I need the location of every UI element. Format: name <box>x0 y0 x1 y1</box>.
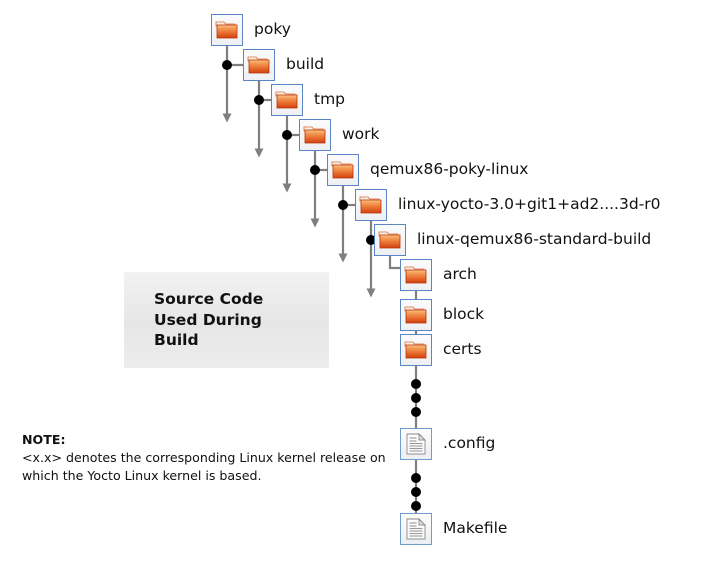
ellipsis-dots-upper <box>411 379 421 417</box>
tree-node-makefile[interactable]: Makefile <box>400 513 507 545</box>
tree-node-linux-qemux86-standard-build[interactable]: linux-qemux86-standard-build <box>374 224 651 256</box>
tree-node-label: certs <box>443 342 482 358</box>
tree-node-linux-yocto[interactable]: linux-yocto-3.0+git1+ad2....3d-r0 <box>355 189 661 221</box>
tree-node-certs[interactable]: certs <box>400 334 482 366</box>
tree-node-arch[interactable]: arch <box>400 259 477 291</box>
callout-line: Used During <box>154 310 263 331</box>
junction-dot-work <box>310 165 320 175</box>
tree-node-label: block <box>443 307 484 323</box>
tree-node-build[interactable]: build <box>243 49 324 81</box>
tree-node-label: .config <box>443 436 495 452</box>
folder-icon <box>400 334 432 366</box>
diagram-canvas: poky build tmp <box>0 0 705 581</box>
folder-icon <box>243 49 275 81</box>
note-line: which the Yocto Linux kernel is based. <box>22 467 386 485</box>
tree-node-label: work <box>342 127 380 143</box>
junction-dot-build <box>254 95 264 105</box>
ellipsis-dot <box>411 501 421 511</box>
tree-node-tmp[interactable]: tmp <box>271 84 345 116</box>
folder-icon <box>211 14 243 46</box>
tree-node-config[interactable]: .config <box>400 428 495 460</box>
note-line: <x.x> denotes the corresponding Linux ke… <box>22 449 386 467</box>
file-icon <box>400 513 432 545</box>
folder-icon <box>374 224 406 256</box>
tree-node-block[interactable]: block <box>400 299 484 331</box>
tree-node-poky[interactable]: poky <box>211 14 291 46</box>
ellipsis-dot <box>411 407 421 417</box>
junction-dot-qemux86 <box>338 200 348 210</box>
file-icon <box>400 428 432 460</box>
ellipsis-dot <box>411 487 421 497</box>
folder-icon <box>327 154 359 186</box>
tree-node-label: poky <box>254 22 291 38</box>
callout-line: Source Code <box>154 289 263 310</box>
tree-node-label: tmp <box>314 92 345 108</box>
tree-node-label: linux-qemux86-standard-build <box>417 232 651 248</box>
tree-node-label: qemux86-poky-linux <box>370 162 528 178</box>
ellipsis-dot <box>411 379 421 389</box>
ellipsis-dots-lower <box>411 473 421 511</box>
folder-icon <box>355 189 387 221</box>
tree-node-label: Makefile <box>443 521 507 537</box>
note-block: NOTE: <x.x> denotes the corresponding Li… <box>22 431 386 485</box>
ellipsis-dot <box>411 473 421 483</box>
folder-icon <box>299 119 331 151</box>
folder-icon <box>400 259 432 291</box>
note-title: NOTE: <box>22 431 386 449</box>
connector-layer <box>0 0 705 581</box>
tree-node-work[interactable]: work <box>299 119 380 151</box>
source-code-callout: Source Code Used During Build <box>124 272 329 368</box>
callout-line: Build <box>154 330 263 351</box>
folder-icon <box>271 84 303 116</box>
tree-node-qemux86-poky-linux[interactable]: qemux86-poky-linux <box>327 154 528 186</box>
callout-text-block: Source Code Used During Build <box>154 289 263 351</box>
junction-dot-poky <box>222 60 232 70</box>
tree-node-label: build <box>286 57 324 73</box>
tree-node-label: linux-yocto-3.0+git1+ad2....3d-r0 <box>398 197 661 213</box>
ellipsis-dot <box>411 393 421 403</box>
tree-node-label: arch <box>443 267 477 283</box>
folder-icon <box>400 299 432 331</box>
junction-dot-tmp <box>282 130 292 140</box>
